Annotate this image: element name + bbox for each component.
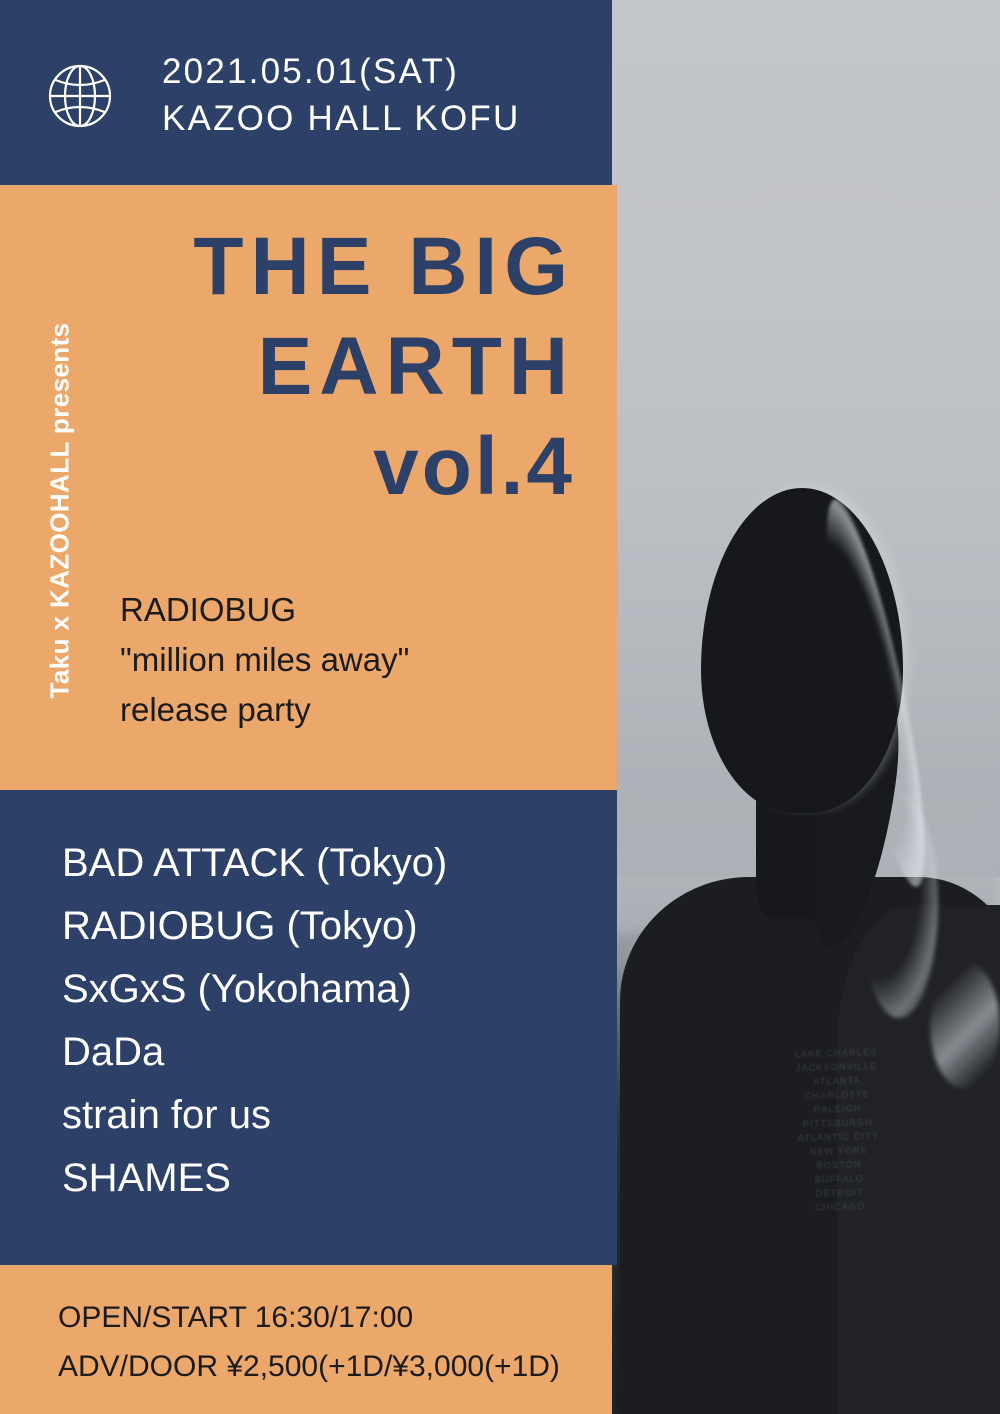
concert-poster: LAKE CHARLES JACKSONVILLE ATLANTA CHARLO… (0, 0, 1000, 1414)
lineup-list: BAD ATTACK (Tokyo) RADIOBUG (Tokyo) SxGx… (62, 832, 447, 1210)
release-artist: RADIOBUG (120, 585, 409, 635)
open-start-times: OPEN/START 16:30/17:00 (58, 1293, 560, 1342)
release-event: release party (120, 685, 409, 735)
title-band: Taku x KAZOOHALL presents THE BIG EARTH … (0, 185, 617, 790)
ticket-info: OPEN/START 16:30/17:00 ADV/DOOR ¥2,500(+… (58, 1293, 560, 1391)
list-item: RADIOBUG (Tokyo) (62, 895, 447, 958)
rim-light-shoulder (930, 962, 1000, 1089)
release-info: RADIOBUG "million miles away" release pa… (120, 585, 409, 735)
footer-band: OPEN/START 16:30/17:00 ADV/DOOR ¥2,500(+… (0, 1265, 612, 1414)
background-photo: LAKE CHARLES JACKSONVILLE ATLANTA CHARLO… (612, 0, 1000, 1414)
header-band: 2021.05.01(SAT) KAZOO HALL KOFU (0, 0, 612, 185)
lineup-band: BAD ATTACK (Tokyo) RADIOBUG (Tokyo) SxGx… (0, 790, 617, 1265)
globe-icon (46, 62, 114, 130)
title-line-3: vol.4 (0, 417, 575, 517)
person-silhouette: LAKE CHARLES JACKSONVILLE ATLANTA CHARLO… (612, 0, 1000, 1414)
event-venue: KAZOO HALL KOFU (162, 95, 520, 142)
rim-light-ponytail (860, 792, 938, 1018)
event-date: 2021.05.01(SAT) (162, 48, 520, 95)
release-album: "million miles away" (120, 635, 409, 685)
list-item: strain for us (62, 1084, 447, 1147)
list-item: BAD ATTACK (Tokyo) (62, 832, 447, 895)
header-info: 2021.05.01(SAT) KAZOO HALL KOFU (162, 48, 520, 142)
title-line-2: EARTH (0, 317, 575, 417)
list-item: DaDa (62, 1021, 447, 1084)
ticket-prices: ADV/DOOR ¥2,500(+1D/¥3,000(+1D) (58, 1342, 560, 1391)
list-item: SHAMES (62, 1147, 447, 1210)
page-title: THE BIG EARTH vol.4 (0, 217, 575, 517)
list-item: SxGxS (Yokohama) (62, 958, 447, 1021)
title-line-1: THE BIG (0, 217, 575, 317)
